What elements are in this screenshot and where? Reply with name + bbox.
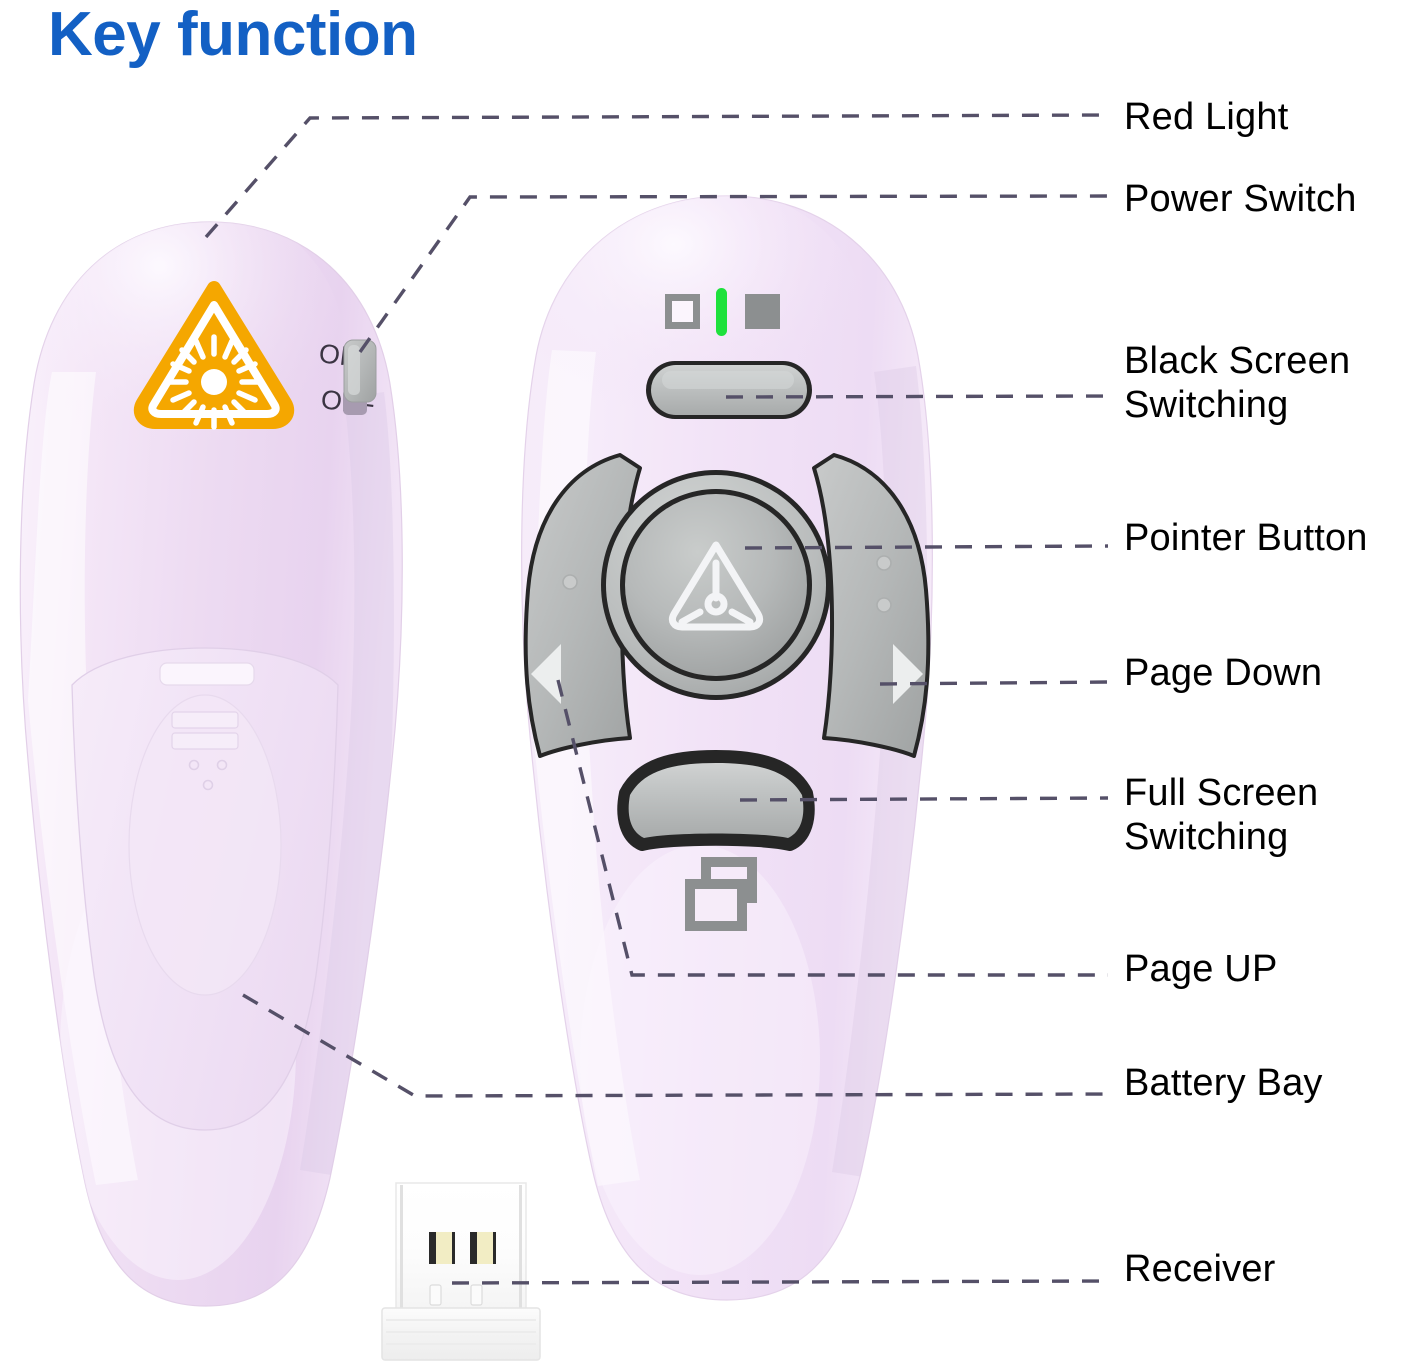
callout-page-up: Page UP bbox=[1124, 948, 1278, 991]
grip-dot-right-1 bbox=[877, 556, 891, 570]
indicator-row bbox=[665, 288, 780, 336]
callout-receiver: Receiver bbox=[1124, 1248, 1276, 1291]
callout-red-light: Red Light bbox=[1124, 96, 1288, 139]
device-back-view bbox=[522, 185, 933, 1300]
leader-page-down bbox=[880, 682, 1108, 684]
device-front-view: ON OFF bbox=[20, 200, 402, 1306]
pointer-button bbox=[601, 470, 831, 700]
callout-battery-bay: Battery Bay bbox=[1124, 1062, 1323, 1105]
black-screen-switching-button bbox=[646, 361, 812, 419]
callout-page-down: Page Down bbox=[1124, 652, 1322, 695]
filled-square-indicator bbox=[745, 294, 780, 329]
battery-cover-ridge-1 bbox=[172, 712, 238, 728]
diagram-canvas: Key function bbox=[0, 0, 1415, 1366]
sunburst-icon bbox=[169, 337, 259, 427]
usb-receiver-dongle bbox=[382, 1183, 540, 1360]
callout-black-screen-switching: Black Screen Switching bbox=[1124, 340, 1350, 427]
grip-dot-left bbox=[563, 575, 577, 589]
hollow-square-indicator bbox=[665, 294, 700, 329]
callout-full-screen-switching: Full Screen Switching bbox=[1124, 772, 1318, 859]
battery-cover-ridge-2 bbox=[172, 733, 238, 749]
grip-dot-right-2 bbox=[877, 598, 891, 612]
callout-power-switch: Power Switch bbox=[1124, 178, 1357, 221]
green-led-indicator bbox=[716, 288, 727, 336]
battery-cover-latch bbox=[160, 663, 254, 685]
callout-pointer-button: Pointer Button bbox=[1124, 517, 1368, 560]
